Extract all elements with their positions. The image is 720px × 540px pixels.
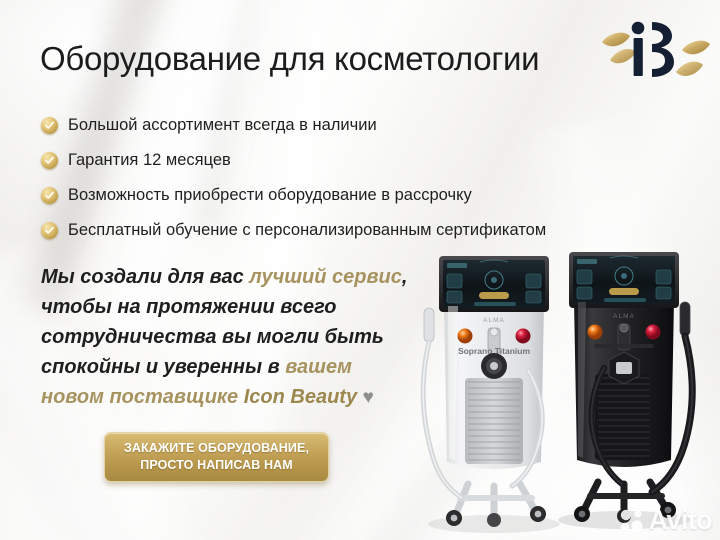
heart-icon: ♥ [363,387,374,408]
cta-line-2: ПРОСТО НАПИСАВ НАМ [140,457,292,474]
cta-line-1: ЗАКАЖИТЕ ОБОРУДОВАНИЕ, [124,440,309,457]
promo-poster: Оборудование для косметологии Большой ас… [0,0,720,540]
black-laser-machine: ALMA [569,252,692,523]
ib-laurel-logo [596,14,714,90]
list-item: Большой ассортимент всегда в наличии [41,108,711,142]
feature-list: Большой ассортимент всегда в наличии Гар… [41,108,711,248]
svg-text:ALMA: ALMA [483,317,505,324]
check-circle-icon [41,187,58,204]
list-item-label: Гарантия 12 месяцев [68,150,231,170]
list-item: Гарантия 12 месяцев [41,143,711,177]
paragraph-highlight-service: лучший сервис [249,266,402,288]
svg-text:ALMA: ALMA [613,313,635,320]
check-circle-icon [41,117,58,134]
laurel-left-icon [602,33,636,64]
laurel-right-icon [676,41,710,76]
list-item: Возможность приобрести оборудование в ра… [41,178,711,212]
list-item-label: Большой ассортимент всегда в наличии [68,115,377,135]
list-item-label: Возможность приобрести оборудование в ра… [68,185,472,205]
list-item: Бесплатный обучение с персонализированны… [41,213,711,247]
ib-monogram-icon [632,22,674,77]
check-circle-icon [41,222,58,239]
marketing-paragraph: Мы создали для вас лучший сервис, чтобы … [41,262,416,413]
list-item-label: Бесплатный обучение с персонализированны… [68,220,546,240]
paragraph-segment-1: Мы создали для вас [41,266,249,288]
check-circle-icon [41,152,58,169]
order-equipment-button[interactable]: ЗАКАЖИТЕ ОБОРУДОВАНИЕ, ПРОСТО НАПИСАВ НА… [104,432,329,482]
brand-name-text: Icon Beauty [244,386,357,408]
product-photo: ALMA Soprano Titanium [408,248,720,540]
page-title: Оборудование для косметологии [40,40,539,78]
white-laser-machine: ALMA Soprano Titanium [423,256,549,527]
